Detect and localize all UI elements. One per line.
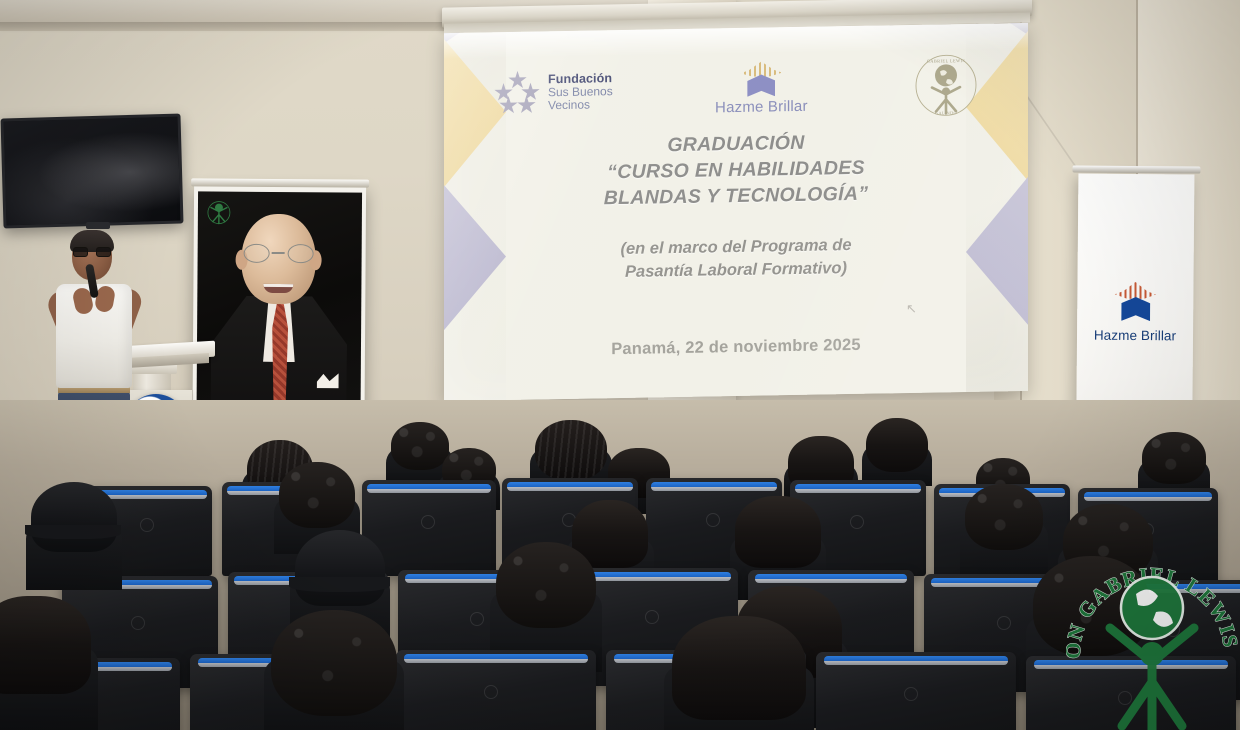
auditorium-seat[interactable] bbox=[816, 652, 1016, 730]
fundacion-gabriel-lewis-galindo-watermark: FUNDACION GABRIEL LEWIS GALINDO bbox=[1066, 536, 1238, 730]
audience-member bbox=[0, 596, 98, 730]
projection-screen: Fundación Sus Buenos Vecinos Hazme Brill… bbox=[432, 8, 1032, 400]
slide-logo-row: Fundación Sus Buenos Vecinos Hazme Brill… bbox=[494, 54, 978, 124]
audience-member bbox=[264, 610, 404, 730]
slide-surface: Fundación Sus Buenos Vecinos Hazme Brill… bbox=[444, 23, 1028, 401]
star-icon bbox=[1107, 282, 1163, 322]
banner-top-rail bbox=[191, 178, 369, 187]
flg-small-icon bbox=[207, 199, 231, 225]
presenter-glasses bbox=[73, 247, 111, 258]
auditorium-seat[interactable] bbox=[396, 650, 596, 730]
seated-audience: FUNDACION GABRIEL LEWIS GALINDO bbox=[0, 400, 1240, 730]
fundacion-gabriel-lewis-galindo-logo: GABRIEL LEWIS GALINDO bbox=[914, 53, 978, 118]
fundacion-sus-buenos-vecinos-logo: Fundación Sus Buenos Vecinos bbox=[494, 69, 613, 115]
tv-screen-reflection bbox=[4, 117, 181, 226]
star-base-chevron bbox=[747, 74, 775, 96]
rollup-logo: Hazme Brillar bbox=[1077, 281, 1194, 343]
audience-member bbox=[664, 616, 814, 730]
slide-title-block: GRADUACIÓN “CURSO EN HABILIDADES BLANDAS… bbox=[488, 128, 984, 214]
star-icon bbox=[734, 61, 788, 98]
audience-member bbox=[26, 482, 122, 590]
rollup-top-rail bbox=[1072, 165, 1200, 173]
tv-mount bbox=[86, 222, 110, 229]
slide-subtitle-block: (en el marco del Programa de Pasantía La… bbox=[488, 232, 984, 286]
portrait-glasses bbox=[244, 244, 314, 264]
fsbv-line3: Vecinos bbox=[548, 98, 613, 112]
photo-scene: Fundación Sus Buenos Vecinos Hazme Brill… bbox=[0, 0, 1240, 730]
mouse-cursor-icon: ↖ bbox=[906, 301, 915, 314]
svg-text:GALINDO: GALINDO bbox=[935, 110, 957, 115]
audience-member bbox=[862, 418, 932, 486]
portrait-smile bbox=[263, 284, 293, 293]
star-base-chevron bbox=[1121, 297, 1150, 321]
hazme-brillar-wordmark: Hazme Brillar bbox=[715, 98, 808, 117]
rollup-wordmark: Hazme Brillar bbox=[1077, 327, 1193, 343]
flg-mark-icon: GABRIEL LEWIS GALINDO bbox=[914, 53, 978, 118]
fsbv-wordmark: Fundación Sus Buenos Vecinos bbox=[548, 72, 613, 111]
hazme-brillar-logo: Hazme Brillar bbox=[715, 61, 808, 117]
five-stars-icon bbox=[494, 70, 540, 115]
chevron-right-lavender-top bbox=[966, 23, 1028, 36]
svg-text:GABRIEL LEWIS: GABRIEL LEWIS bbox=[927, 58, 966, 64]
wall-mounted-tv bbox=[0, 114, 183, 229]
